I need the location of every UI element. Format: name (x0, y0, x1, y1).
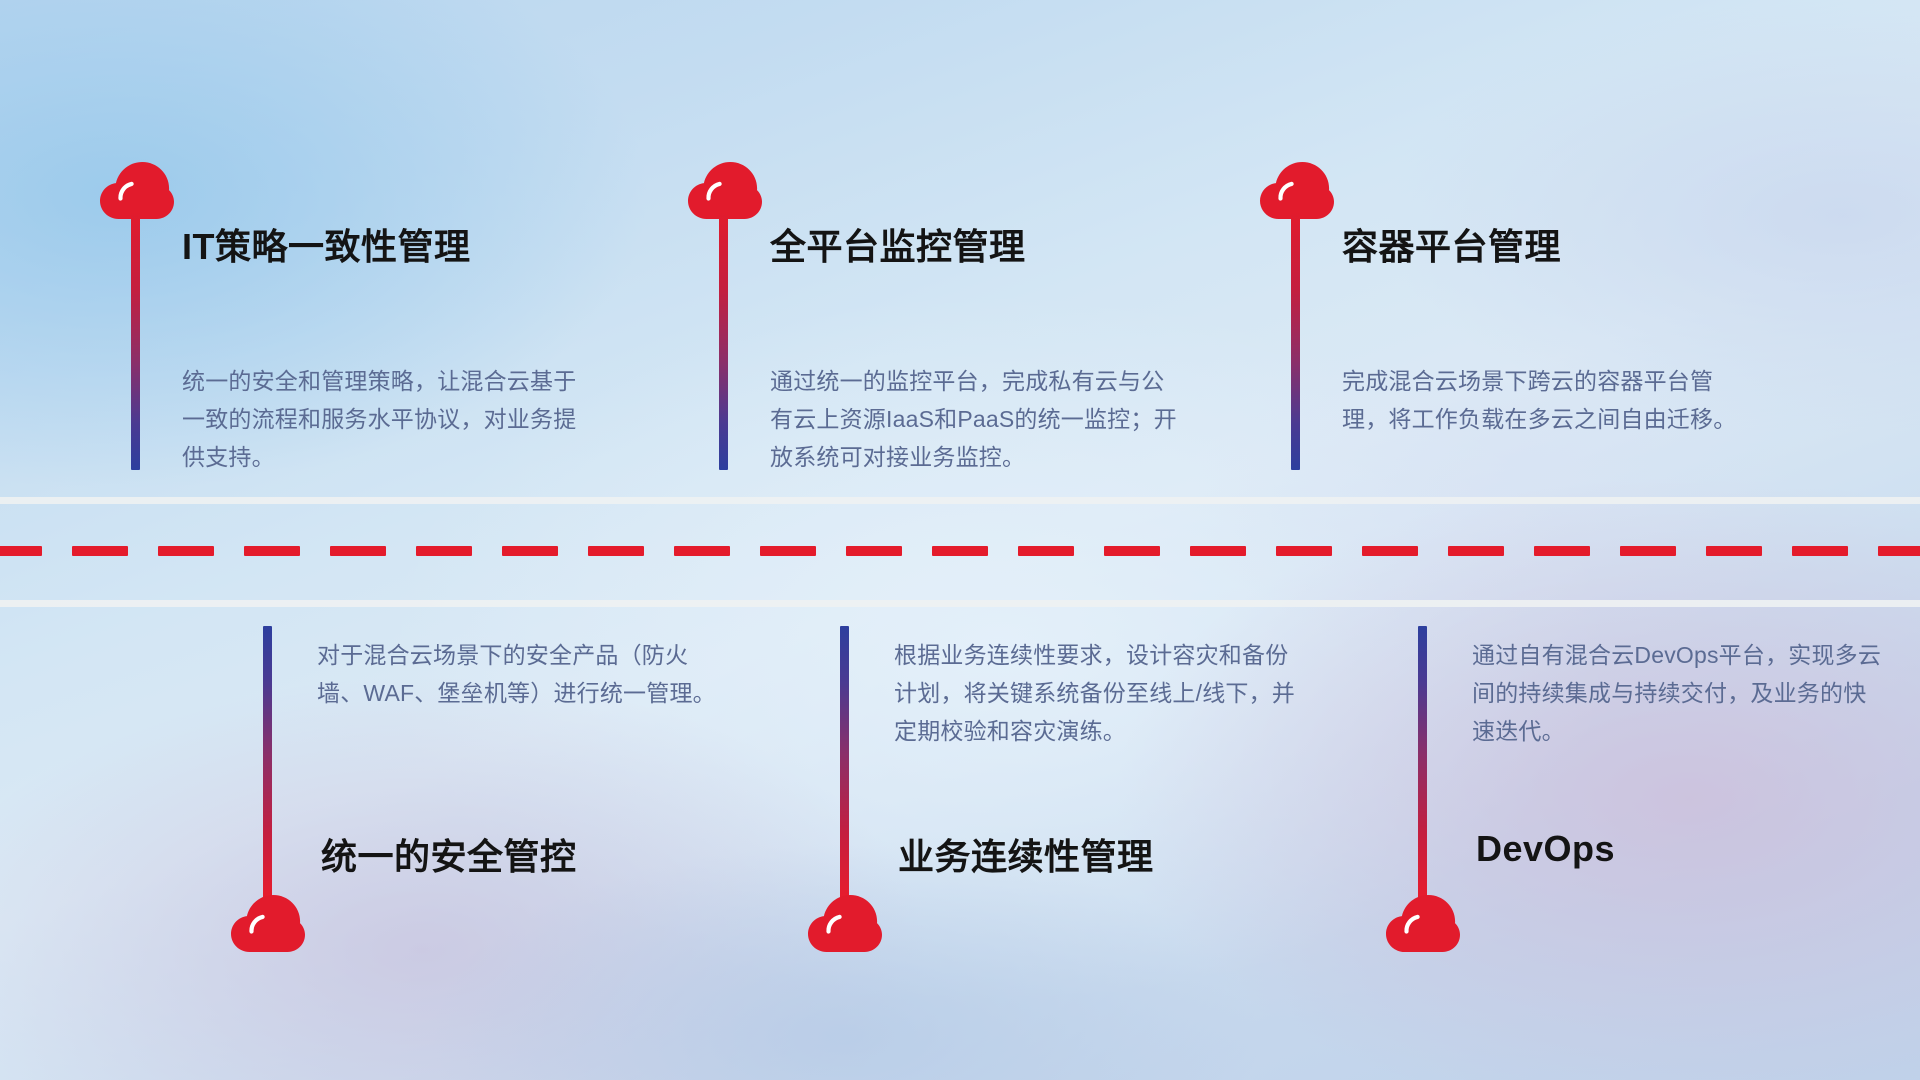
connector-line (131, 212, 140, 470)
divider-dash (1190, 546, 1246, 556)
divider-dash (0, 546, 42, 556)
divider-dash (1792, 546, 1848, 556)
feature-description: 统一的安全和管理策略，让混合云基于一致的流程和服务水平协议，对业务提供支持。 (182, 362, 597, 476)
divider-dash (932, 546, 988, 556)
divider-dash (1448, 546, 1504, 556)
divider-dash (1534, 546, 1590, 556)
slide-canvas: IT策略一致性管理 统一的安全和管理策略，让混合云基于一致的流程和服务水平协议，… (0, 0, 1920, 1080)
divider-dash (502, 546, 558, 556)
divider-dash (158, 546, 214, 556)
divider-dash (244, 546, 300, 556)
divider-line-bottom (0, 600, 1920, 607)
connector-line (263, 626, 272, 906)
feature-description: 完成混合云场景下跨云的容器平台管理，将工作负载在多云之间自由迁移。 (1342, 362, 1757, 438)
feature-heading: DevOps (1476, 828, 1615, 870)
cloud-icon (808, 895, 882, 953)
feature-heading: 业务连续性管理 (898, 828, 1154, 880)
feature-heading: IT策略一致性管理 (182, 218, 471, 270)
divider-dash (1620, 546, 1676, 556)
divider-dash (1706, 546, 1762, 556)
divider-dash (416, 546, 472, 556)
feature-heading: 统一的安全管控 (321, 828, 577, 880)
feature-heading: 全平台监控管理 (770, 218, 1026, 270)
divider-dash (1276, 546, 1332, 556)
connector-line (1291, 212, 1300, 470)
divider-dash (330, 546, 386, 556)
dashed-divider (0, 546, 1920, 556)
divider-dash (760, 546, 816, 556)
connector-line (840, 626, 849, 906)
divider-dash (1018, 546, 1074, 556)
divider-dash (846, 546, 902, 556)
feature-heading: 容器平台管理 (1342, 218, 1561, 270)
feature-description: 通过统一的监控平台，完成私有云与公有云上资源IaaS和PaaS的统一监控；开放系… (770, 362, 1185, 476)
divider-dash (1878, 546, 1920, 556)
feature-description: 通过自有混合云DevOps平台，实现多云间的持续集成与持续交付，及业务的快速迭代… (1472, 636, 1887, 750)
cloud-icon (231, 895, 305, 953)
divider-dash (1362, 546, 1418, 556)
divider-dash (72, 546, 128, 556)
feature-description: 根据业务连续性要求，设计容灾和备份计划，将关键系统备份至线上/线下，并定期校验和… (894, 636, 1309, 750)
divider-dash (674, 546, 730, 556)
connector-line (1418, 626, 1427, 906)
divider-line-top (0, 497, 1920, 504)
divider-dash (588, 546, 644, 556)
cloud-icon (1386, 895, 1460, 953)
connector-line (719, 212, 728, 470)
feature-description: 对于混合云场景下的安全产品（防火墙、WAF、堡垒机等）进行统一管理。 (317, 636, 732, 712)
divider-dash (1104, 546, 1160, 556)
